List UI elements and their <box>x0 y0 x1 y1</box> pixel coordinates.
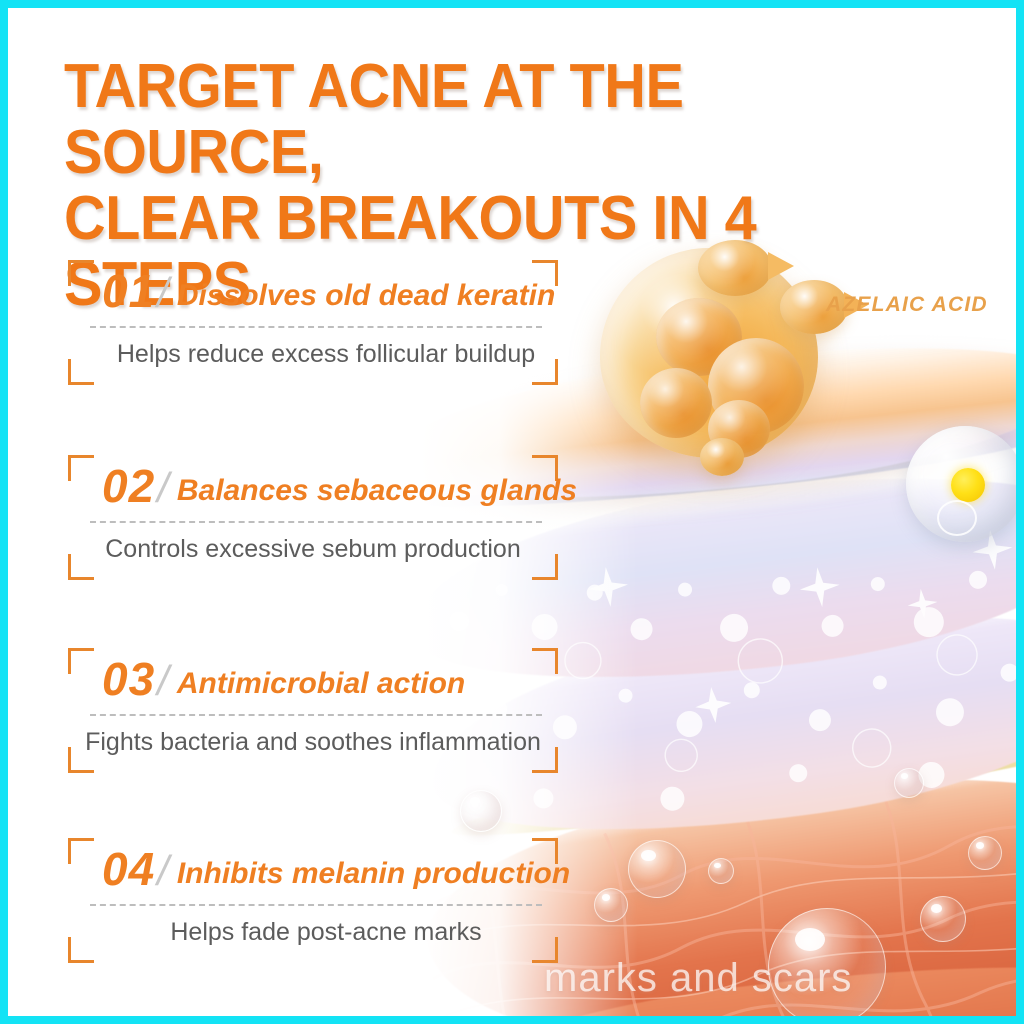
step-divider <box>90 904 542 906</box>
benefit-steps-list: 01 / Dissolves old dead keratin Helps re… <box>8 8 1016 1016</box>
watermark-text: marks and scars <box>544 956 852 1001</box>
step-heading: 01 / Dissolves old dead keratin <box>102 268 555 314</box>
step-divider <box>90 521 542 523</box>
step-description: Helps fade post-acne marks <box>68 916 558 948</box>
benefit-step-04: 04 / Inhibits melanin production Helps f… <box>68 838 558 963</box>
step-divider <box>90 326 542 328</box>
corner-bracket-icon <box>532 648 558 674</box>
step-slash-icon: / <box>157 272 169 314</box>
step-description: Fights bacteria and soothes inflammation <box>68 726 558 758</box>
poster-stage: TARGET ACNE AT THE SOURCE, CLEAR BREAKOU… <box>8 8 1016 1016</box>
step-number: 03 <box>102 656 155 702</box>
promotional-poster: TARGET ACNE AT THE SOURCE, CLEAR BREAKOU… <box>0 0 1024 1024</box>
step-title: Balances sebaceous glands <box>177 476 577 506</box>
step-number: 02 <box>102 463 155 509</box>
step-title: Dissolves old dead keratin <box>177 281 555 311</box>
step-heading: 03 / Antimicrobial action <box>102 656 465 702</box>
corner-bracket-icon <box>68 838 94 864</box>
benefit-step-03: 03 / Antimicrobial action Fights bacteri… <box>68 648 558 773</box>
step-title: Antimicrobial action <box>177 669 465 699</box>
step-description: Controls excessive sebum production <box>68 533 558 565</box>
step-slash-icon: / <box>157 467 169 509</box>
step-heading: 04 / Inhibits melanin production <box>102 846 570 892</box>
benefit-step-02: 02 / Balances sebaceous glands Controls … <box>68 455 558 580</box>
step-number: 04 <box>102 846 155 892</box>
step-divider <box>90 714 542 716</box>
corner-bracket-icon <box>68 455 94 481</box>
step-description: Helps reduce excess follicular buildup <box>68 338 558 370</box>
corner-bracket-icon <box>68 260 94 286</box>
step-heading: 02 / Balances sebaceous glands <box>102 463 577 509</box>
step-slash-icon: / <box>157 850 169 892</box>
corner-bracket-icon <box>68 648 94 674</box>
step-slash-icon: / <box>157 660 169 702</box>
benefit-step-01: 01 / Dissolves old dead keratin Helps re… <box>68 260 558 385</box>
step-title: Inhibits melanin production <box>177 859 570 889</box>
step-number: 01 <box>102 268 155 314</box>
